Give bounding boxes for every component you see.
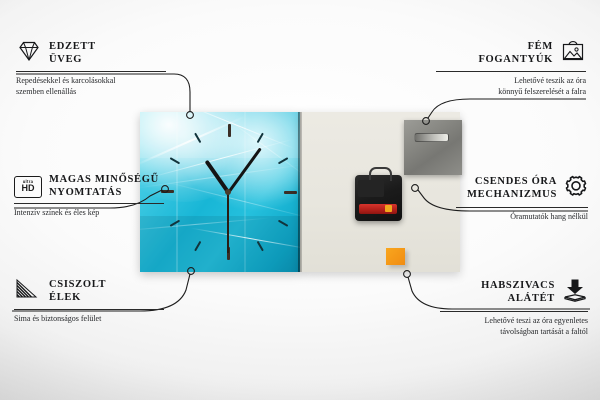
callout-fem-fogantyuk: FÉM FOGANTYÚK Lehetővé teszik az óra kön…: [436, 40, 586, 97]
callout-desc-line2: távolságban tartását a faltól: [500, 327, 588, 336]
panel-seam: [298, 112, 302, 272]
clock-tick: [257, 241, 264, 252]
callout-divider: [440, 311, 588, 312]
callout-title-line2: MECHANIZMUS: [467, 189, 557, 200]
polished-edge-icon: [14, 278, 42, 305]
hanger-slot: [414, 133, 449, 142]
callout-divider: [16, 71, 166, 72]
clock-tick: [170, 157, 181, 164]
callout-csiszolt-elek: CSISZOLT ÉLEK Sima és biztonságos felüle…: [14, 278, 164, 325]
mechanism-hang-loop: [369, 167, 392, 181]
callout-title-line2: FOGANTYÚK: [478, 54, 553, 65]
clock-tick: [278, 220, 289, 227]
mechanism-face-plate: [358, 180, 384, 197]
callout-title-line2: ALÁTÉT: [508, 293, 555, 304]
ultra-hd-icon: ultra HD: [14, 176, 42, 198]
callout-divider: [14, 309, 164, 310]
clock-front-panel: [140, 112, 300, 272]
callout-desc-line1: Óramutatók hang nélkül: [510, 212, 588, 221]
clock-center-cap: [225, 189, 231, 195]
callout-title-line1: FÉM: [528, 41, 553, 52]
clock-second-hand: [227, 191, 229, 253]
callout-edzett-uveg: EDZETT ÜVEG Repedésekkel és karcolásokka…: [16, 40, 166, 97]
callout-desc-line1: Intenzív színek és éles kép: [14, 208, 99, 217]
callout-desc-line2: szemben ellenállás: [16, 87, 76, 96]
callout-desc-line1: Lehetővé teszi az óra egyenletes: [485, 316, 589, 325]
ultra-hd-main-text: HD: [22, 184, 35, 193]
clock-tick: [228, 124, 231, 137]
callout-title-line1: EDZETT: [49, 41, 96, 52]
diamond-icon: [16, 40, 42, 67]
callout-divider: [436, 71, 586, 72]
callout-habszivacs-alatet: HABSZIVACS ALÁTÉT Lehetővé teszi az óra …: [440, 278, 588, 337]
callout-title-line2: NYOMTATÁS: [49, 187, 122, 198]
callout-desc-line1: Repedésekkel és karcolásokkal: [16, 76, 116, 85]
foam-pad-icon: [562, 278, 588, 307]
battery-plus-terminal: [385, 205, 392, 212]
callout-divider: [456, 207, 588, 208]
callout-title-line2: ÜVEG: [49, 54, 82, 65]
callout-desc-line1: Sima és biztonságos felület: [14, 314, 101, 323]
clock-tick: [278, 157, 289, 164]
metal-hanger-plate: [404, 120, 462, 175]
callout-desc-line1: Lehetővé teszik az óra: [514, 76, 586, 85]
clock-face: [156, 120, 300, 264]
gear-icon: [564, 174, 588, 203]
callout-csendes-ora-mechanizmus: CSENDES ÓRA MECHANIZMUS Óramutatók hang …: [456, 174, 588, 223]
callout-divider: [14, 203, 164, 204]
callout-magas-minosegu-nyomtatas: ultra HD MAGAS MINŐSÉGŰ NYOMTATÁS Intenz…: [14, 174, 164, 219]
clock-tick: [257, 133, 264, 144]
infographic-canvas: EDZETT ÜVEG Repedésekkel és karcolásokka…: [0, 0, 600, 400]
clock-tick: [284, 191, 297, 194]
clock-tick: [170, 220, 181, 227]
foam-pad: [386, 248, 405, 265]
callout-title-line1: CSISZOLT: [49, 279, 106, 290]
wall-mount-icon: [560, 40, 586, 67]
quartz-mechanism: [355, 175, 402, 221]
callout-title-line1: HABSZIVACS: [481, 280, 555, 291]
clock-minute-hand: [226, 147, 261, 194]
product-image: [140, 112, 460, 272]
clock-tick: [194, 133, 201, 144]
callout-title-line2: ÉLEK: [49, 292, 81, 303]
clock-tick: [194, 241, 201, 252]
callout-desc-line2: könnyű felszerelését a falra: [498, 87, 586, 96]
callout-title-line1: CSENDES ÓRA: [475, 176, 557, 187]
callout-title-line1: MAGAS MINŐSÉGŰ: [49, 174, 159, 185]
